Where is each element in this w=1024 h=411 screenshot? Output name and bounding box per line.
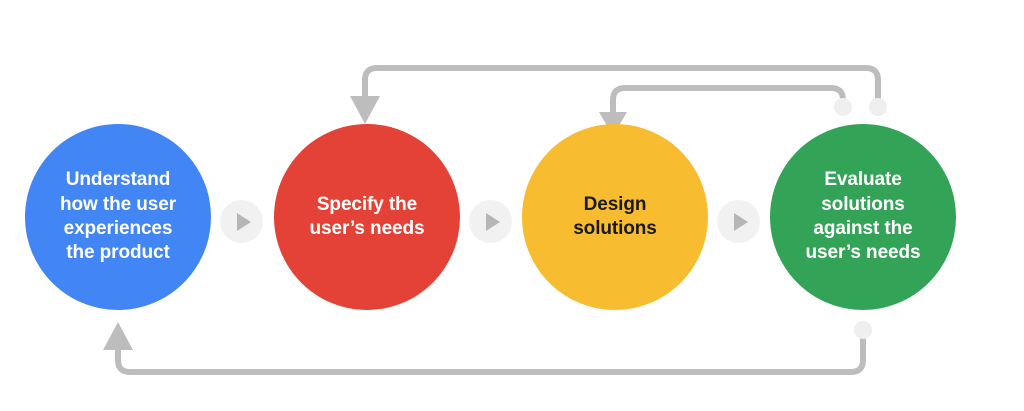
loop-origin-dot-bottom: [854, 321, 872, 339]
loop-path-evaluate-to-understand: [118, 332, 863, 372]
loop-origin-dot-inner: [834, 98, 852, 116]
stage-label-design: Design solutions: [559, 193, 671, 242]
arrowhead-down-specify: [350, 96, 380, 124]
diagram-canvas: Understand how the user experiences the …: [0, 0, 1024, 411]
step-connector-understand-to-specify[interactable]: [220, 200, 263, 243]
play-triangle-icon: [486, 213, 500, 231]
step-connector-design-to-evaluate[interactable]: [717, 200, 760, 243]
stage-label-understand: Understand how the user experiences the …: [46, 168, 190, 265]
loop-path-evaluate-to-design: [613, 88, 843, 112]
stage-node-design[interactable]: Design solutions: [522, 124, 708, 310]
play-triangle-icon: [237, 213, 251, 231]
stage-node-specify[interactable]: Specify the user’s needs: [274, 124, 460, 310]
stage-label-specify: Specify the user’s needs: [296, 193, 439, 242]
stage-label-evaluate: Evaluate solutions against the user’s ne…: [792, 168, 935, 265]
arrowhead-up-understand: [103, 322, 133, 350]
step-connector-specify-to-design[interactable]: [469, 200, 512, 243]
play-triangle-icon: [734, 213, 748, 231]
loop-origin-dot-outer: [869, 98, 887, 116]
stage-node-evaluate[interactable]: Evaluate solutions against the user’s ne…: [770, 124, 956, 310]
stage-node-understand[interactable]: Understand how the user experiences the …: [25, 124, 211, 310]
